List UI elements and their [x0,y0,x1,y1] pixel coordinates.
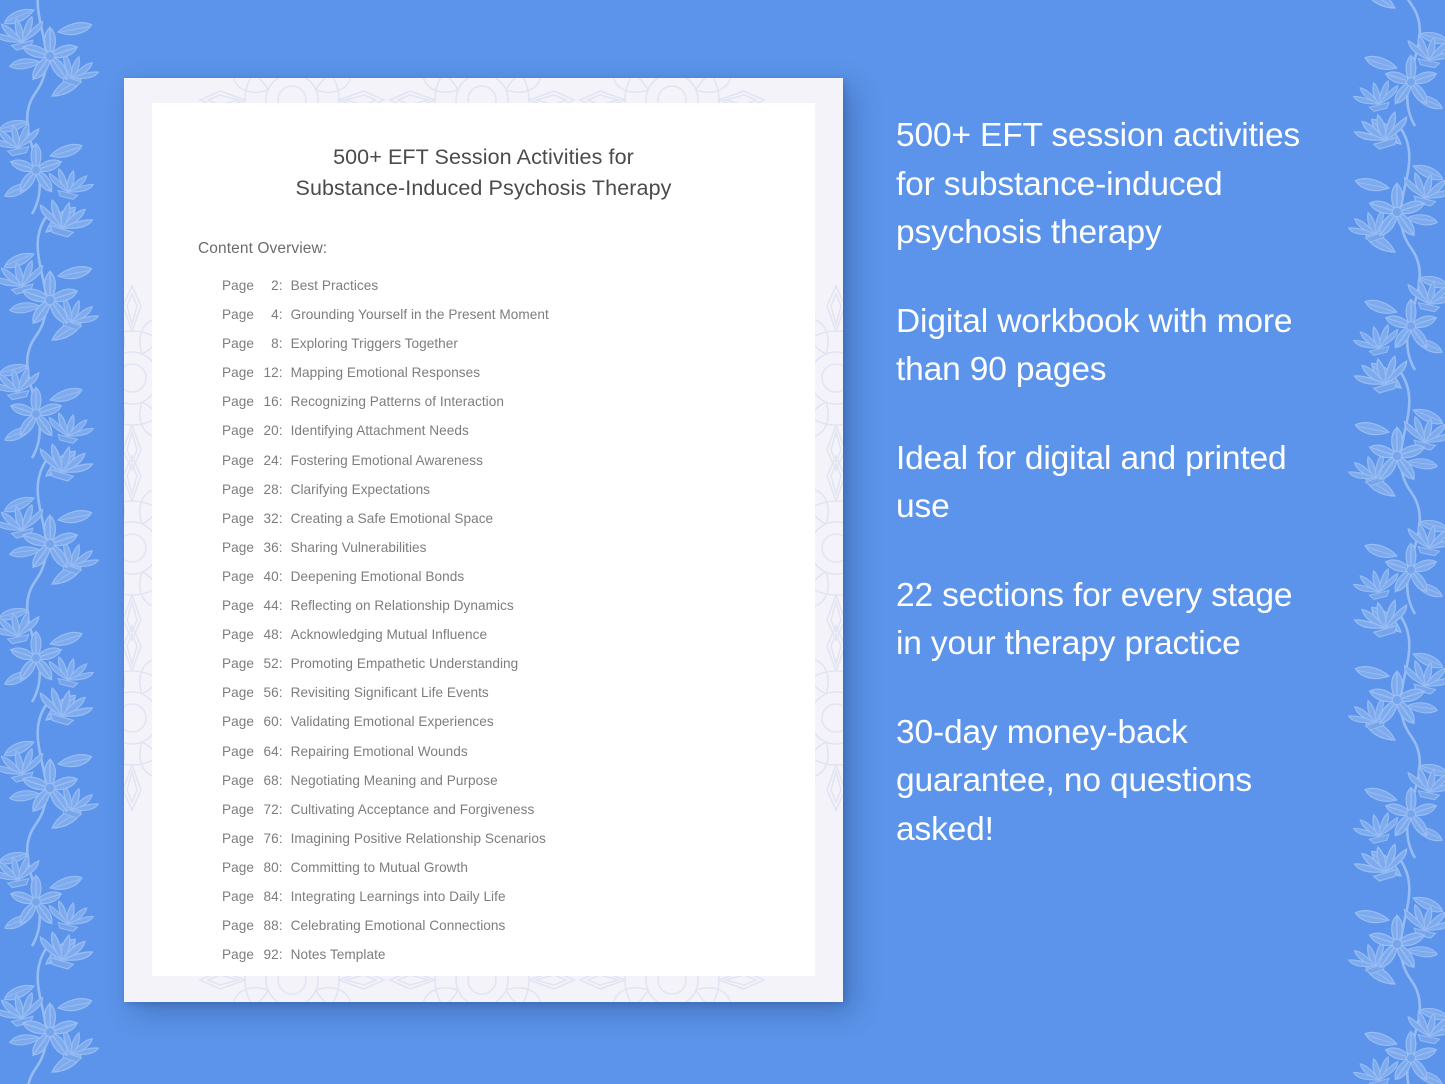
toc-page-word: Page [222,831,254,846]
toc-entry-page: Page 60: [222,707,283,736]
toc-page-word: Page [222,307,254,322]
toc-entry: Page 60:Validating Emotional Experiences [222,707,815,736]
toc-page-number: 40 [258,562,279,591]
toc-entry-title: Cultivating Acceptance and Forgiveness [291,795,535,824]
toc-entry: Page 24:Fostering Emotional Awareness [222,446,815,475]
toc-entry-page: Page 92: [222,940,283,969]
toc-entry: Page 84:Integrating Learnings into Daily… [222,882,815,911]
marketing-bullet: 22 sections for every stage in your ther… [896,572,1326,669]
toc-entry: Page 44:Reflecting on Relationship Dynam… [222,591,815,620]
toc-entry-title: Acknowledging Mutual Influence [291,620,487,649]
toc-entry-title: Committing to Mutual Growth [291,853,468,882]
toc-entry-title: Fostering Emotional Awareness [291,446,483,475]
toc-page-number: 20 [258,416,279,445]
toc-entry: Page 4:Grounding Yourself in the Present… [222,300,815,329]
toc-page-word: Page [222,889,254,904]
toc-entry: Page 56:Revisiting Significant Life Even… [222,678,815,707]
toc-page-number: 88 [258,911,279,940]
toc-entry: Page 72:Cultivating Acceptance and Forgi… [222,795,815,824]
toc-page-word: Page [222,598,254,613]
workbook-page: 500+ EFT Session Activities for Substanc… [152,103,815,976]
toc-page-number: 64 [258,737,279,766]
floral-border-right-icon [1316,0,1445,1084]
toc-page-word: Page [222,918,254,933]
toc-entry-title: Identifying Attachment Needs [291,416,469,445]
toc-page-number: 12 [258,358,279,387]
toc-entry-page: Page 72: [222,795,283,824]
page-title: 500+ EFT Session Activities for Substanc… [152,142,815,204]
toc-page-number: 4 [258,300,279,329]
floral-border-left-icon [0,0,131,1084]
toc-page-number: 60 [258,707,279,736]
toc-entry-page: Page 12: [222,358,283,387]
toc-page-number: 32 [258,504,279,533]
toc-entry-page: Page 84: [222,882,283,911]
toc-entry: Page 32:Creating a Safe Emotional Space [222,504,815,533]
toc-page-number: 2 [258,271,279,300]
toc-entry-title: Deepening Emotional Bonds [291,562,465,591]
page-title-line-2: Substance-Induced Psychosis Therapy [192,173,775,204]
toc-entry-title: Exploring Triggers Together [291,329,458,358]
toc-page-word: Page [222,511,254,526]
toc-page-number: 72 [258,795,279,824]
toc-entry-page: Page 16: [222,387,283,416]
toc-page-word: Page [222,714,254,729]
toc-entry-title: Recognizing Patterns of Interaction [291,387,504,416]
toc-entry-page: Page 8: [222,329,283,358]
toc-entry: Page 2:Best Practices [222,271,815,300]
toc-entry: Page 52:Promoting Empathetic Understandi… [222,649,815,678]
content-overview-label: Content Overview: [198,240,815,258]
toc-entry-title: Best Practices [291,271,379,300]
toc-entry-title: Validating Emotional Experiences [291,707,494,736]
toc-entry-page: Page 56: [222,678,283,707]
toc-page-word: Page [222,802,254,817]
toc-entry-page: Page 44: [222,591,283,620]
toc-entry-page: Page 4: [222,300,283,329]
toc-entry: Page 16:Recognizing Patterns of Interact… [222,387,815,416]
toc-page-number: 76 [258,824,279,853]
page-title-line-1: 500+ EFT Session Activities for [192,142,775,173]
toc-entry-title: Repairing Emotional Wounds [291,737,468,766]
toc-entry: Page 28:Clarifying Expectations [222,475,815,504]
toc-page-number: 84 [258,882,279,911]
toc-entry: Page 40:Deepening Emotional Bonds [222,562,815,591]
marketing-bullet: Digital workbook with more than 90 pages [896,298,1326,395]
toc-page-word: Page [222,627,254,642]
toc-page-number: 28 [258,475,279,504]
toc-page-word: Page [222,685,254,700]
toc-entry-title: Mapping Emotional Responses [291,358,481,387]
toc-page-word: Page [222,860,254,875]
toc-page-word: Page [222,947,254,962]
toc-entry: Page 92:Notes Template [222,940,815,969]
toc-entry-title: Creating a Safe Emotional Space [291,504,494,533]
toc-entry-title: Notes Template [291,940,386,969]
toc-entry-title: Sharing Vulnerabilities [291,533,427,562]
toc-entry-title: Clarifying Expectations [291,475,430,504]
toc-entry-page: Page 68: [222,766,283,795]
toc-entry: Page 8:Exploring Triggers Together [222,329,815,358]
toc-page-number: 8 [258,329,279,358]
marketing-bullets: 500+ EFT session activities for substanc… [896,112,1326,854]
toc-entry-title: Negotiating Meaning and Purpose [291,766,498,795]
toc-entry: Page 12:Mapping Emotional Responses [222,358,815,387]
toc-entry-page: Page 2: [222,271,283,300]
toc-page-number: 48 [258,620,279,649]
toc-page-word: Page [222,569,254,584]
marketing-bullet: 500+ EFT session activities for substanc… [896,112,1326,258]
toc-page-word: Page [222,453,254,468]
marketing-bullet: 30-day money-back guarantee, no question… [896,709,1326,855]
toc-page-word: Page [222,744,254,759]
toc-entry-page: Page 40: [222,562,283,591]
toc-page-word: Page [222,423,254,438]
toc-page-number: 80 [258,853,279,882]
toc-entry-title: Revisiting Significant Life Events [291,678,489,707]
toc-entry-page: Page 80: [222,853,283,882]
toc-page-number: 56 [258,678,279,707]
toc-entry: Page 88:Celebrating Emotional Connection… [222,911,815,940]
toc-entry-title: Integrating Learnings into Daily Life [291,882,506,911]
toc-page-word: Page [222,656,254,671]
toc-entry: Page 36:Sharing Vulnerabilities [222,533,815,562]
toc-entry: Page 68:Negotiating Meaning and Purpose [222,766,815,795]
toc-entry-page: Page 88: [222,911,283,940]
toc-page-word: Page [222,365,254,380]
toc-entry-page: Page 48: [222,620,283,649]
toc-page-word: Page [222,394,254,409]
table-of-contents: Page 2:Best PracticesPage 4:Grounding Yo… [222,271,815,969]
toc-entry: Page 48:Acknowledging Mutual Influence [222,620,815,649]
toc-page-number: 36 [258,533,279,562]
toc-entry-title: Imagining Positive Relationship Scenario… [291,824,546,853]
toc-page-word: Page [222,278,254,293]
workbook-preview-card: 500+ EFT Session Activities for Substanc… [124,78,843,1002]
marketing-bullet: Ideal for digital and printed use [896,435,1326,532]
toc-entry-title: Grounding Yourself in the Present Moment [291,300,549,329]
toc-page-number: 92 [258,940,279,969]
toc-page-word: Page [222,773,254,788]
toc-entry-title: Promoting Empathetic Understanding [291,649,519,678]
toc-page-word: Page [222,482,254,497]
toc-entry-page: Page 24: [222,446,283,475]
toc-entry-title: Celebrating Emotional Connections [291,911,506,940]
toc-entry: Page 76:Imagining Positive Relationship … [222,824,815,853]
toc-entry-page: Page 52: [222,649,283,678]
toc-entry-page: Page 28: [222,475,283,504]
toc-page-number: 68 [258,766,279,795]
toc-entry-page: Page 20: [222,416,283,445]
toc-page-number: 52 [258,649,279,678]
toc-entry-page: Page 36: [222,533,283,562]
toc-entry: Page 20:Identifying Attachment Needs [222,416,815,445]
toc-page-number: 16 [258,387,279,416]
toc-page-number: 24 [258,446,279,475]
toc-entry-page: Page 32: [222,504,283,533]
toc-entry-page: Page 64: [222,737,283,766]
toc-page-number: 44 [258,591,279,620]
toc-page-word: Page [222,540,254,555]
toc-page-word: Page [222,336,254,351]
toc-entry-page: Page 76: [222,824,283,853]
toc-entry: Page 80:Committing to Mutual Growth [222,853,815,882]
toc-entry-title: Reflecting on Relationship Dynamics [291,591,514,620]
toc-entry: Page 64:Repairing Emotional Wounds [222,737,815,766]
